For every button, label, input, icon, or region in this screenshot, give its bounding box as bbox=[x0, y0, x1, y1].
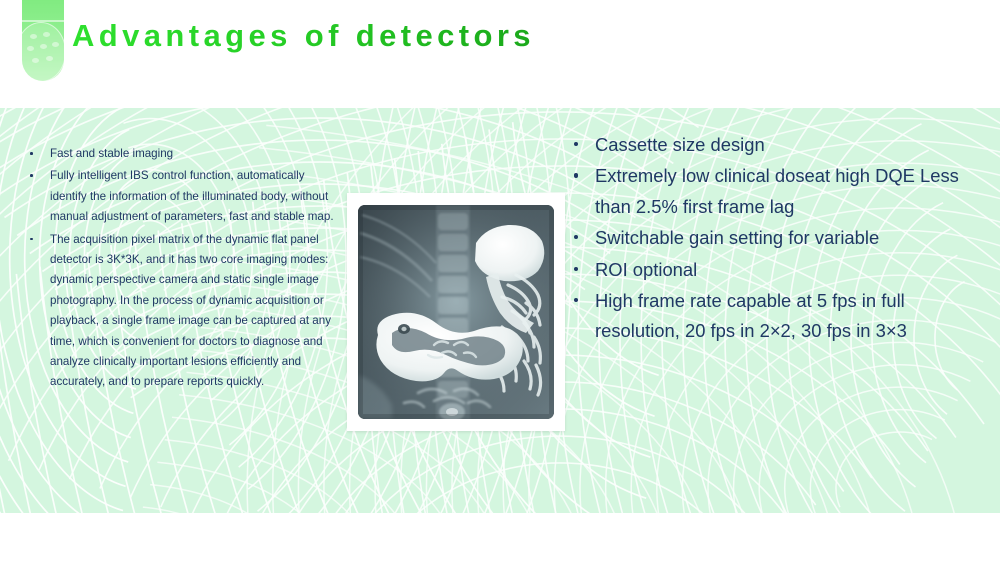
list-item-text: High frame rate capable at 5 fps in full… bbox=[595, 290, 907, 341]
slide-header: Advantages of detectors bbox=[0, 0, 1000, 108]
footer-strip bbox=[0, 513, 1000, 563]
list-item-text: The acquisition pixel matrix of the dyna… bbox=[50, 233, 331, 389]
bullet-dot-icon bbox=[574, 298, 578, 302]
logo-dot bbox=[52, 42, 59, 47]
bullet-dot-icon bbox=[574, 142, 578, 146]
xray-stomach-fundus bbox=[475, 225, 544, 281]
list-item-text: ROI optional bbox=[595, 259, 697, 280]
xray-image-graphic bbox=[358, 205, 554, 419]
list-item: Fully intelligent IBS control function, … bbox=[20, 166, 340, 227]
logo-dot bbox=[46, 56, 53, 61]
xray-image bbox=[358, 205, 554, 419]
list-item: Switchable gain setting for variable bbox=[568, 223, 992, 253]
logo-dot bbox=[30, 34, 37, 39]
logo-dot bbox=[32, 58, 39, 63]
logo-dot bbox=[27, 46, 34, 51]
list-item-text: Cassette size design bbox=[595, 134, 765, 155]
list-item: The acquisition pixel matrix of the dyna… bbox=[20, 230, 340, 393]
bullet-dot-icon bbox=[574, 235, 578, 239]
list-item: Extremely low clinical doseat high DQE L… bbox=[568, 161, 992, 222]
test-tube-logo-icon bbox=[22, 0, 64, 81]
logo-dot bbox=[43, 32, 50, 37]
list-item: ROI optional bbox=[568, 255, 992, 285]
logo-oval bbox=[22, 22, 64, 81]
list-item-text: Fast and stable imaging bbox=[50, 147, 173, 160]
bullet-dot-icon bbox=[574, 173, 578, 177]
list-item: High frame rate capable at 5 fps in full… bbox=[568, 286, 992, 347]
list-item-text: Fully intelligent IBS control function, … bbox=[50, 169, 334, 223]
bullet-dot-icon bbox=[574, 267, 578, 271]
bullet-dot-icon bbox=[30, 174, 33, 177]
list-item-text: Switchable gain setting for variable bbox=[595, 227, 879, 248]
xray-image-card bbox=[347, 193, 565, 431]
logo-dot bbox=[40, 44, 47, 49]
list-item-text: Extremely low clinical doseat high DQE L… bbox=[595, 165, 959, 216]
left-bullet-list: Fast and stable imaging Fully intelligen… bbox=[20, 144, 340, 395]
right-bullet-list: Cassette size design Extremely low clini… bbox=[568, 130, 992, 348]
list-item: Fast and stable imaging bbox=[20, 144, 340, 164]
bullet-dot-icon bbox=[30, 238, 33, 241]
list-item: Cassette size design bbox=[568, 130, 992, 160]
page-title: Advantages of detectors bbox=[72, 18, 535, 54]
bullet-dot-icon bbox=[30, 152, 33, 155]
